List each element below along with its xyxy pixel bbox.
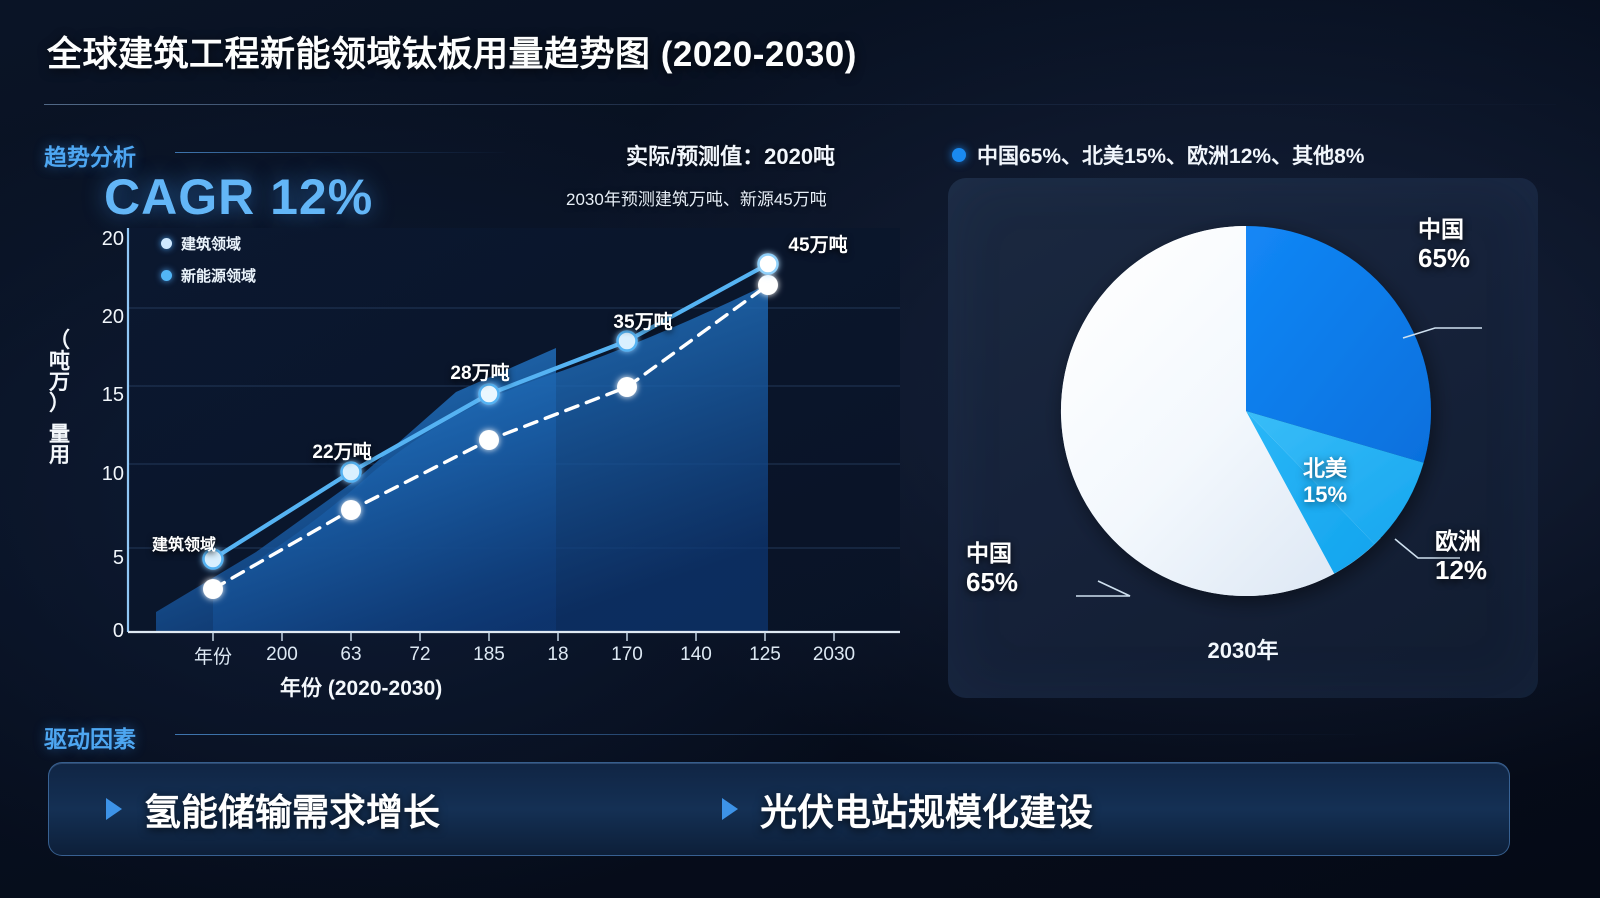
x-tick-5: 18 <box>547 644 568 666</box>
x-tick-6: 170 <box>611 644 643 666</box>
chart-legend-new-energy: 新能源领域 <box>161 265 256 286</box>
pie-slice-label-north-america: 北美 15% <box>1303 456 1347 509</box>
driver-section-header: 驱动因素 <box>44 720 136 754</box>
forecast-detail-note: 2030年预测建筑万吨、新源45万吨 <box>566 185 827 210</box>
cagr-value: CAGR 12% <box>104 168 373 226</box>
pie-callout-europe-pct: 12% <box>1435 555 1487 586</box>
legend-dot-construction-icon <box>161 238 172 249</box>
line-chart-x-axis-title: 年份 (2020-2030) <box>280 672 442 702</box>
pie-callout-china-right-pct: 65% <box>1418 243 1470 274</box>
point-label-22: 22万吨 <box>312 437 371 464</box>
title-divider <box>44 104 1556 105</box>
driver-item-hydrogen[interactable]: 氢能储输需求增长 <box>106 782 440 836</box>
driver-section-divider <box>175 734 1355 735</box>
legend-dot-new-energy-icon <box>161 270 172 281</box>
pie-callout-china-left: 中国 65% <box>966 540 1018 598</box>
triangle-right-icon <box>722 798 738 820</box>
x-tick-1: 200 <box>266 644 298 666</box>
x-tick-8: 125 <box>749 644 781 666</box>
chart-legend-construction: 建筑领域 <box>161 233 241 254</box>
inline-annotation-construction: 建筑领域 <box>152 531 216 555</box>
x-tick-9: 2030 <box>813 644 855 666</box>
pie-slice-label-north-america-name: 北美 <box>1303 456 1347 482</box>
pie-slice-label-north-america-pct: 15% <box>1303 482 1347 508</box>
x-tick-7: 140 <box>680 644 712 666</box>
pie-legend-label: 中国65%、北美15%、欧洲12%、其他8% <box>977 140 1364 170</box>
point-label-35: 35万吨 <box>613 307 672 334</box>
legend-dot-icon <box>952 148 966 162</box>
pie-callout-china-left-name: 中国 <box>966 540 1018 567</box>
trend-section-header: 趋势分析 <box>44 138 136 172</box>
chart-legend-label-construction: 建筑领域 <box>181 233 241 254</box>
regional-share-pie-panel: 中国 65% 北美 15% 欧洲 12% 中国 65% 2030年 <box>948 178 1538 698</box>
driver-item-photovoltaic-label: 光伏电站规模化建设 <box>760 782 1093 836</box>
driver-item-photovoltaic[interactable]: 光伏电站规模化建设 <box>722 782 1093 836</box>
x-axis-ticks <box>213 632 834 641</box>
pie-callout-europe: 欧洲 12% <box>1435 528 1487 586</box>
x-tick-4: 185 <box>473 644 505 666</box>
point-label-45: 45万吨 <box>788 230 847 257</box>
pie-callout-china-right-name: 中国 <box>1418 216 1470 243</box>
triangle-right-icon <box>106 798 122 820</box>
page-title: 全球建筑工程新能领域钛板用量趋势图 (2020-2030) <box>47 26 857 77</box>
chart-legend-label-new-energy: 新能源领域 <box>181 265 256 286</box>
pie-callout-china-left-pct: 65% <box>966 567 1018 598</box>
x-tick-0: 年份 <box>194 642 232 669</box>
titanium-usage-line-chart <box>28 222 908 702</box>
pie-callout-china-right: 中国 65% <box>1418 216 1470 274</box>
x-tick-3: 72 <box>409 644 430 666</box>
pie-legend: 中国65%、北美15%、欧洲12%、其他8% <box>952 140 1364 170</box>
trend-section-divider <box>175 152 505 153</box>
actual-forecast-note: 实际/预测值：2020吨 <box>626 139 835 171</box>
x-tick-2: 63 <box>340 644 361 666</box>
pie-caption-year: 2030年 <box>948 633 1538 665</box>
point-label-28: 28万吨 <box>450 358 509 385</box>
pie-callout-europe-name: 欧洲 <box>1435 528 1487 555</box>
driver-factors-bar: 氢能储输需求增长 光伏电站规模化建设 <box>48 762 1510 856</box>
pie-slices <box>1061 226 1431 596</box>
driver-item-hydrogen-label: 氢能储输需求增长 <box>144 782 440 836</box>
infographic-root: 全球建筑工程新能领域钛板用量趋势图 (2020-2030) 趋势分析 CAGR … <box>0 0 1600 898</box>
